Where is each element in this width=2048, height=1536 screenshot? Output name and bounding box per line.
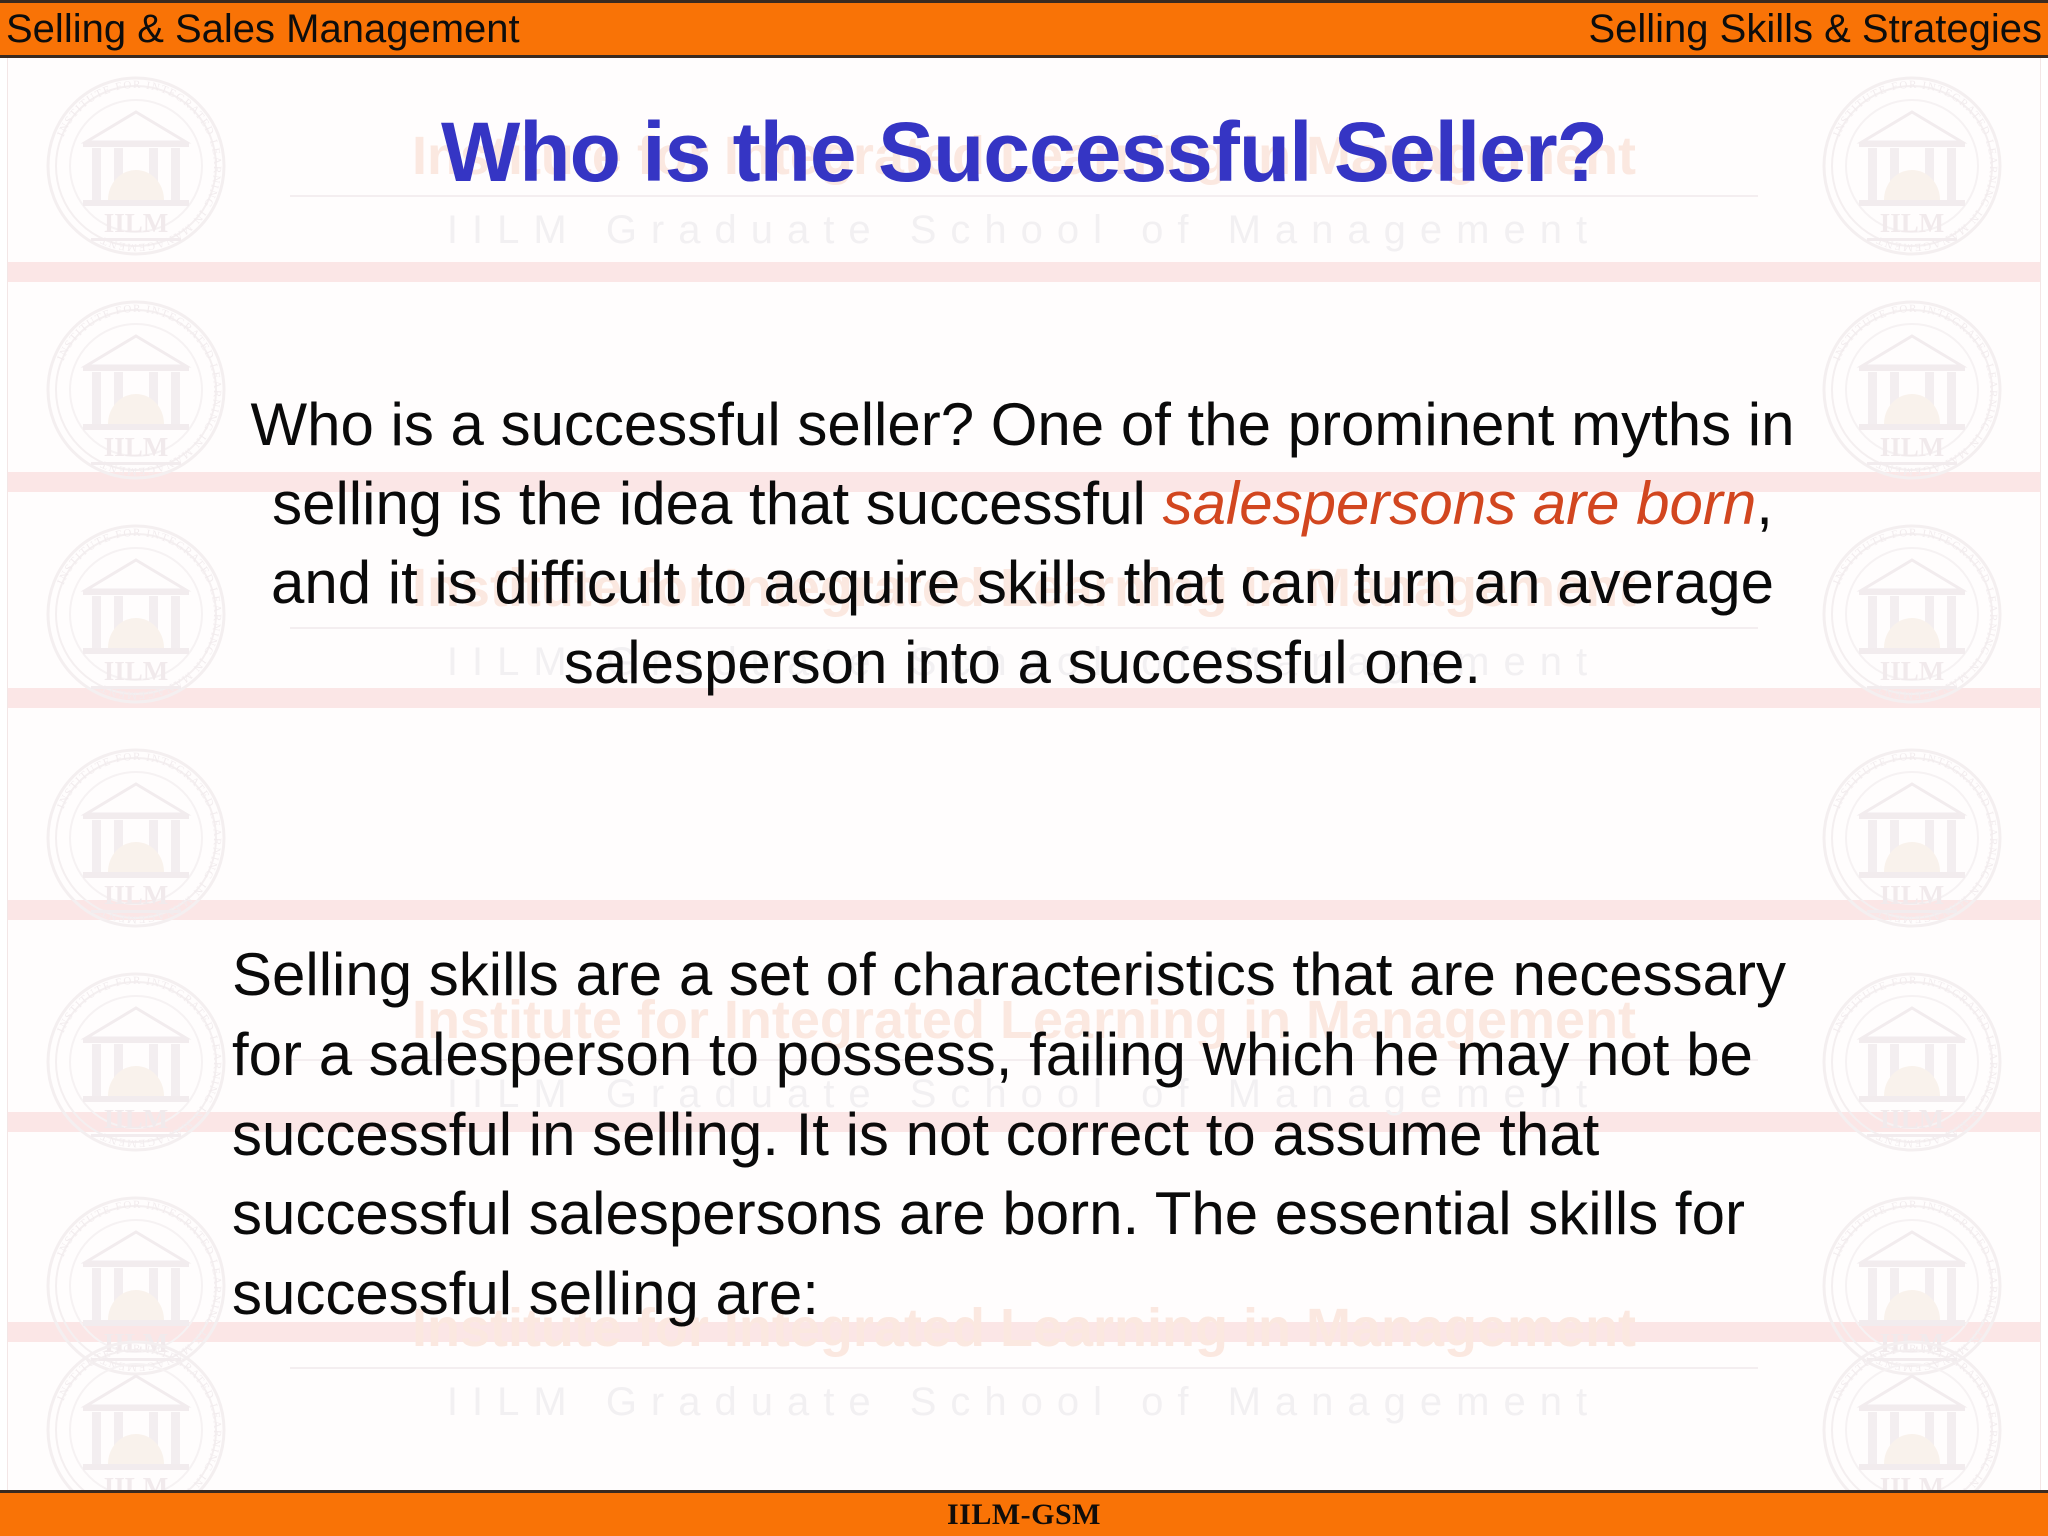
paragraph-one-emphasis: salespersons are born [1163,470,1757,537]
slide-footer-bar: IILM-GSM [0,1490,2048,1536]
slide-header-bar: Selling & Sales Management Selling Skill… [0,0,2048,58]
slide-content: Selling & Sales Management Selling Skill… [0,0,2048,1536]
paragraph-one: Who is a successful seller? One of the p… [225,385,1820,702]
presentation-slide: INSTITUTE FOR INTEGRATED LEARNING IN MAN… [0,0,2048,1536]
topic-title: Selling Skills & Strategies [1588,9,2042,49]
slide-left-edge [0,58,8,1490]
paragraph-two: Selling skills are a set of characterist… [232,935,1852,1334]
footer-label: IILM-GSM [947,1500,1101,1530]
slide-right-edge [2040,58,2048,1490]
page-title: Who is the Successful Seller? [0,108,2048,196]
course-title: Selling & Sales Management [6,9,520,49]
